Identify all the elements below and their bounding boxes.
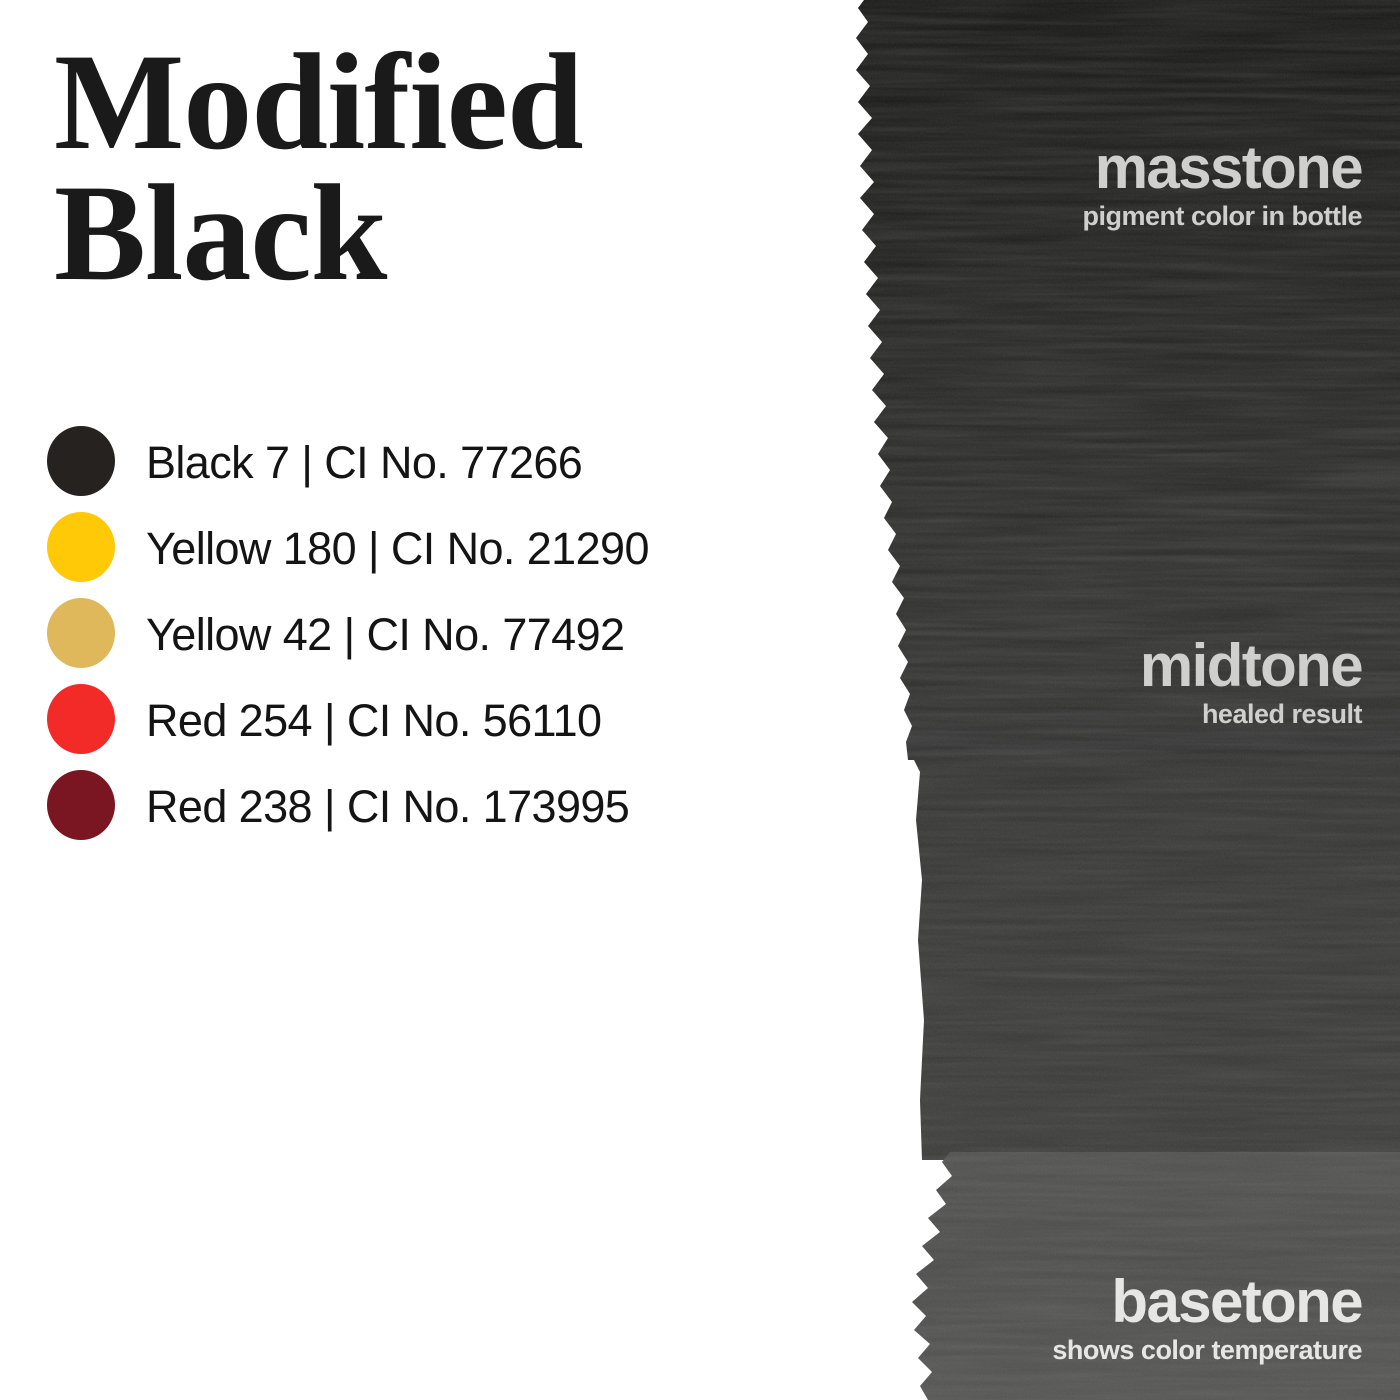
pigment-ingredient-list: Black 7 | CI No. 77266Yellow 180 | CI No… (47, 418, 837, 848)
pigment-label: Red 254 | CI No. 56110 (146, 698, 601, 743)
pigment-label: Yellow 180 | CI No. 21290 (146, 526, 649, 571)
pigment-row: Yellow 180 | CI No. 21290 (47, 504, 837, 590)
midtone-swatch-shape (912, 752, 1400, 1160)
masstone-swatch-shape (856, 0, 1400, 760)
pigment-label: Red 238 | CI No. 173995 (146, 784, 629, 829)
basetone-swatch-shape (912, 1152, 1400, 1400)
info-column: Modified Black Black 7 | CI No. 77266Yel… (0, 0, 860, 1400)
pigment-label: Black 7 | CI No. 77266 (146, 440, 582, 485)
pigment-row: Red 254 | CI No. 56110 (47, 676, 837, 762)
pigment-dot-yellow-180 (47, 512, 115, 582)
pigment-dot-black-7 (47, 426, 115, 496)
pigment-dot-red-254 (47, 684, 115, 754)
pigment-row: Yellow 42 | CI No. 77492 (47, 590, 837, 676)
pigment-row: Black 7 | CI No. 77266 (47, 418, 837, 504)
pigment-label: Yellow 42 | CI No. 77492 (146, 612, 624, 657)
swatch-stack (800, 0, 1400, 1400)
page-title: Modified Black (54, 36, 814, 298)
pigment-dot-yellow-42 (47, 598, 115, 668)
pigment-info-card: masstone pigment color in bottle midtone… (0, 0, 1400, 1400)
pigment-dot-red-238 (47, 770, 115, 840)
pigment-row: Red 238 | CI No. 173995 (47, 762, 837, 848)
